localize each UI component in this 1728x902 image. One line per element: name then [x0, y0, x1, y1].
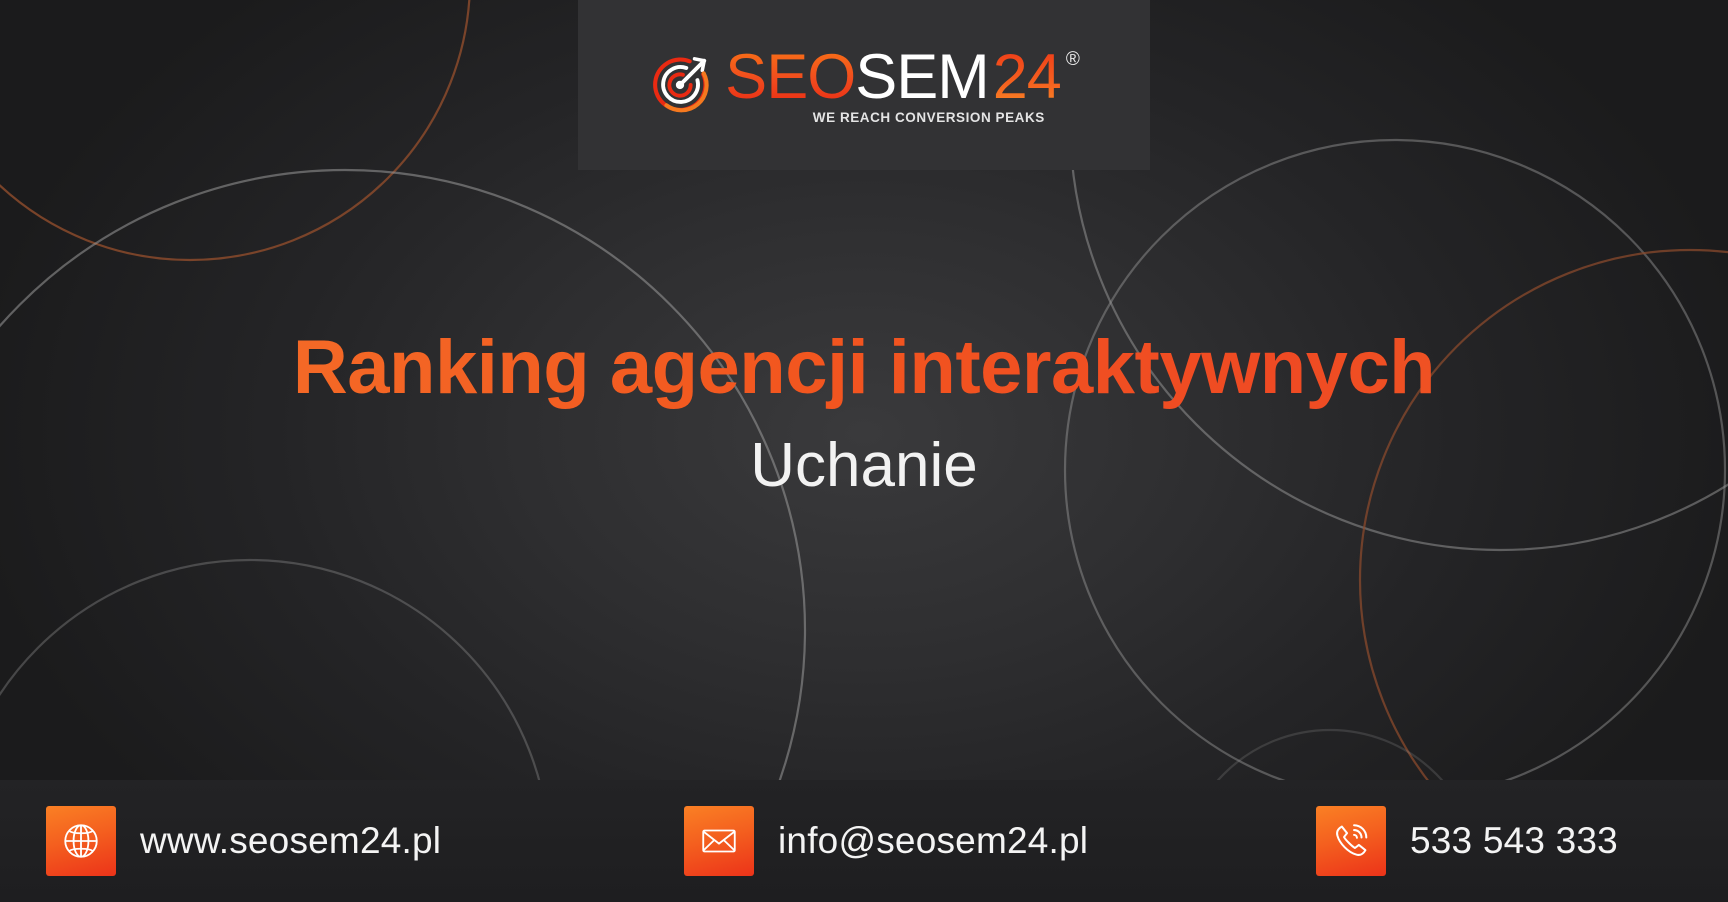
- contact-item-website[interactable]: www.seosem24.pl: [46, 806, 441, 876]
- contact-footer-bar: www.seosem24.pl info@seosem24.pl: [0, 780, 1728, 902]
- logo-word-24: 24: [993, 46, 1061, 109]
- logo-lockup: SEO SEM 24 ® WE REACH CONVERSION PEAKS: [649, 46, 1079, 125]
- contact-website-label: www.seosem24.pl: [140, 820, 441, 862]
- target-dart-icon: [649, 53, 711, 115]
- logo-word-sem: SEM: [855, 46, 989, 109]
- logo-word-seo: SEO: [725, 46, 855, 109]
- envelope-icon: [684, 806, 754, 876]
- contact-phone-label: 533 543 333: [1410, 820, 1618, 862]
- phone-ring-icon: [1316, 806, 1386, 876]
- contact-item-phone[interactable]: 533 543 333: [1316, 806, 1618, 876]
- page-title: Ranking agencji interaktywnych: [0, 328, 1728, 409]
- headline-block: Ranking agencji interaktywnych Uchanie: [0, 328, 1728, 498]
- logo-panel: SEO SEM 24 ® WE REACH CONVERSION PEAKS: [578, 0, 1150, 170]
- logo-tagline: WE REACH CONVERSION PEAKS: [725, 110, 1079, 125]
- slide-canvas: SEO SEM 24 ® WE REACH CONVERSION PEAKS R…: [0, 0, 1728, 902]
- logo-wordmark: SEO SEM 24 ® WE REACH CONVERSION PEAKS: [725, 46, 1079, 125]
- contact-email-label: info@seosem24.pl: [778, 820, 1088, 862]
- page-subtitle: Uchanie: [0, 433, 1728, 498]
- contact-item-email[interactable]: info@seosem24.pl: [684, 806, 1088, 876]
- registered-trademark-icon: ®: [1066, 50, 1079, 69]
- globe-icon: [46, 806, 116, 876]
